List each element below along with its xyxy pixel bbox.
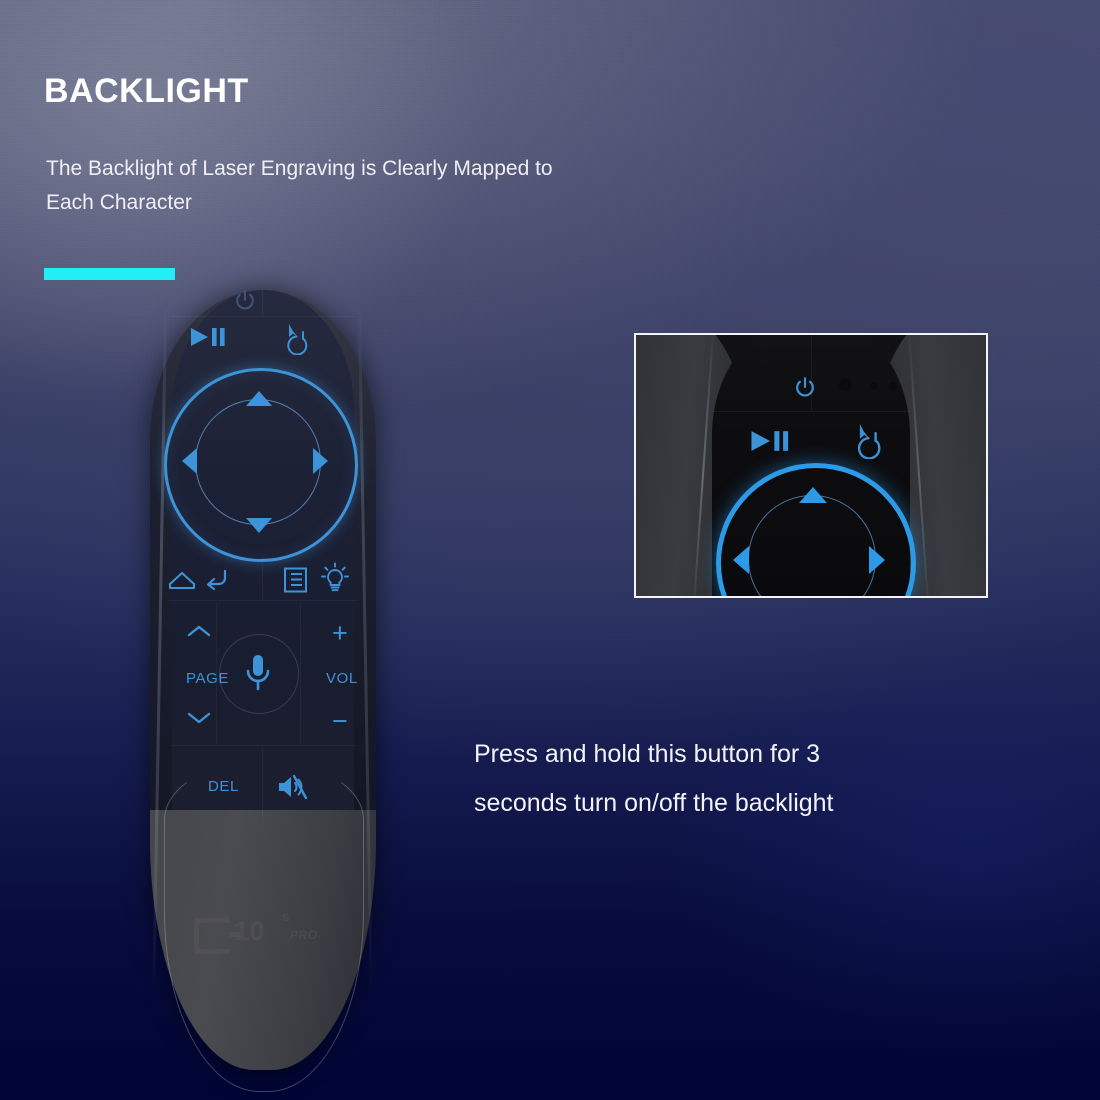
divider (262, 747, 263, 817)
air-mouse-icon[interactable] (283, 323, 313, 360)
brand-logo: 10 S PRO (190, 912, 320, 952)
logo-suffix: PRO (290, 928, 318, 942)
divider (300, 602, 301, 745)
remote-control: PAGE + VOL − DEL (128, 290, 398, 1080)
vol-label: VOL (326, 670, 358, 687)
mute-icon[interactable] (276, 773, 308, 806)
play-pause-icon[interactable] (750, 429, 790, 458)
arrow-up-icon[interactable] (799, 487, 827, 503)
power-icon[interactable] (792, 375, 818, 401)
chevron-up-icon[interactable] (186, 623, 212, 644)
light-bulb-icon[interactable] (320, 562, 350, 599)
logo-superscript: S (282, 912, 289, 924)
home-icon[interactable] (168, 568, 196, 597)
arrow-down-icon[interactable] (246, 518, 272, 533)
divider (262, 290, 263, 316)
led-indicator-icon (889, 382, 897, 390)
arrow-left-icon[interactable] (733, 546, 749, 574)
menu-list-icon[interactable] (283, 566, 309, 599)
arrow-up-icon[interactable] (246, 391, 272, 406)
divider (262, 558, 263, 600)
closeup-inset (634, 333, 988, 598)
divider (168, 600, 358, 601)
instruction-caption: Press and hold this button for 3 seconds… (474, 730, 904, 828)
minus-icon[interactable]: − (332, 708, 348, 735)
power-icon[interactable] (232, 288, 258, 314)
brand-dot-icon (224, 916, 229, 921)
product-banner: BACKLIGHT The Backlight of Laser Engravi… (0, 0, 1100, 1100)
arrow-right-icon[interactable] (313, 448, 328, 474)
divider (170, 745, 356, 746)
logo-model: 10 (234, 916, 265, 947)
air-mouse-icon[interactable] (853, 423, 887, 464)
brand-mark-icon (194, 918, 229, 954)
page-subtitle: The Backlight of Laser Engraving is Clea… (46, 152, 606, 220)
microphone-icon[interactable] (241, 652, 275, 699)
delete-button[interactable]: DEL (208, 778, 239, 795)
play-pause-icon[interactable] (190, 326, 226, 353)
page-title: BACKLIGHT (44, 72, 249, 111)
led-indicator-icon (870, 382, 878, 390)
divider (712, 411, 910, 412)
back-arrow-icon[interactable] (204, 568, 230, 597)
plus-icon[interactable]: + (332, 620, 348, 647)
divider (172, 316, 354, 317)
accent-bar (44, 268, 175, 280)
chevron-down-icon[interactable] (186, 710, 212, 731)
arrow-right-icon[interactable] (869, 546, 885, 574)
ok-circle-icon[interactable] (195, 399, 321, 525)
arrow-left-icon[interactable] (182, 448, 197, 474)
led-indicator-icon (839, 378, 852, 391)
